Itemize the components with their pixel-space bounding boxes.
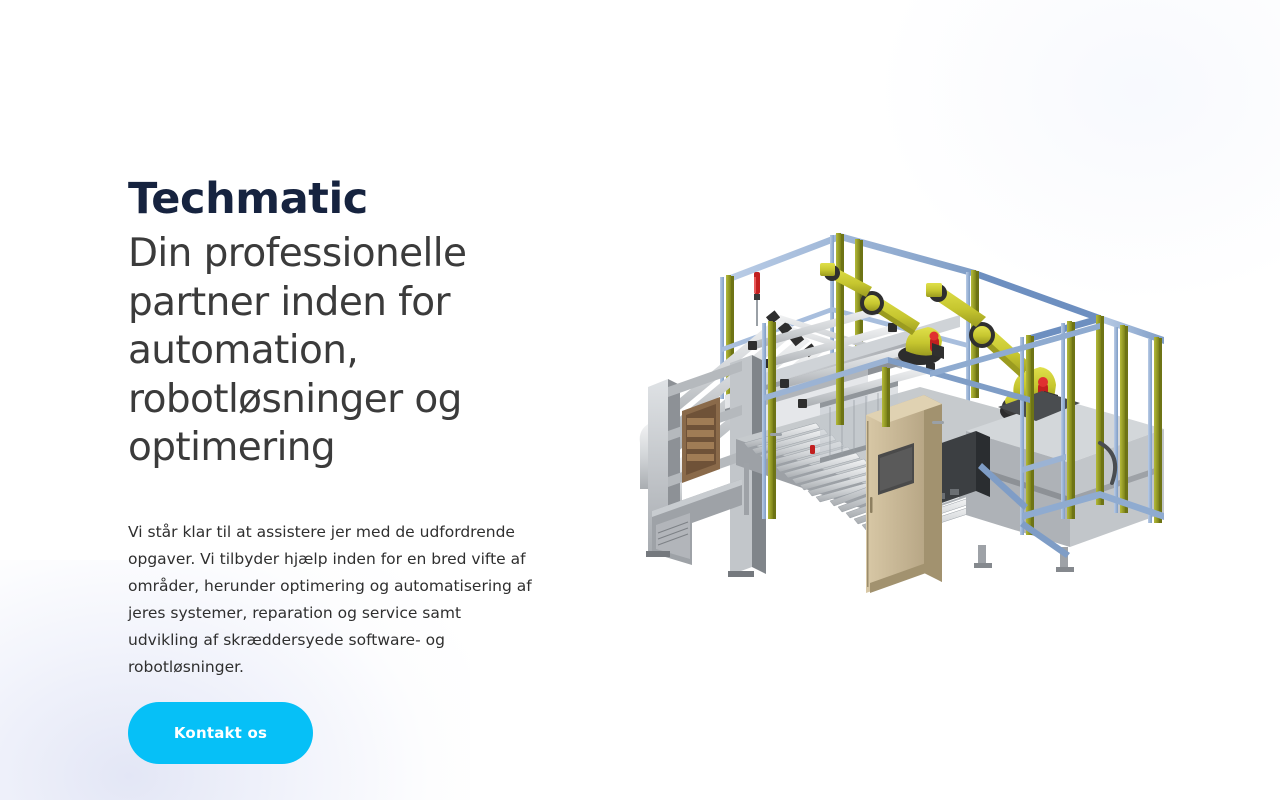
hero-page: Techmatic Din professionelle partner ind…	[0, 0, 1280, 800]
hero-body-text: Vi står klar til at assistere jer med de…	[128, 519, 533, 681]
robotic-cell-illustration	[630, 215, 1170, 615]
hero-subtitle: Din professionelle partner inden for aut…	[128, 230, 528, 472]
control-cabinet	[866, 395, 942, 593]
hero-text-block: Techmatic Din professionelle partner ind…	[128, 176, 548, 472]
contact-cta-button[interactable]: Kontakt os	[128, 702, 313, 764]
brand-title: Techmatic	[128, 176, 548, 222]
contact-cta-label: Kontakt os	[174, 724, 267, 742]
signal-tower	[754, 272, 760, 326]
